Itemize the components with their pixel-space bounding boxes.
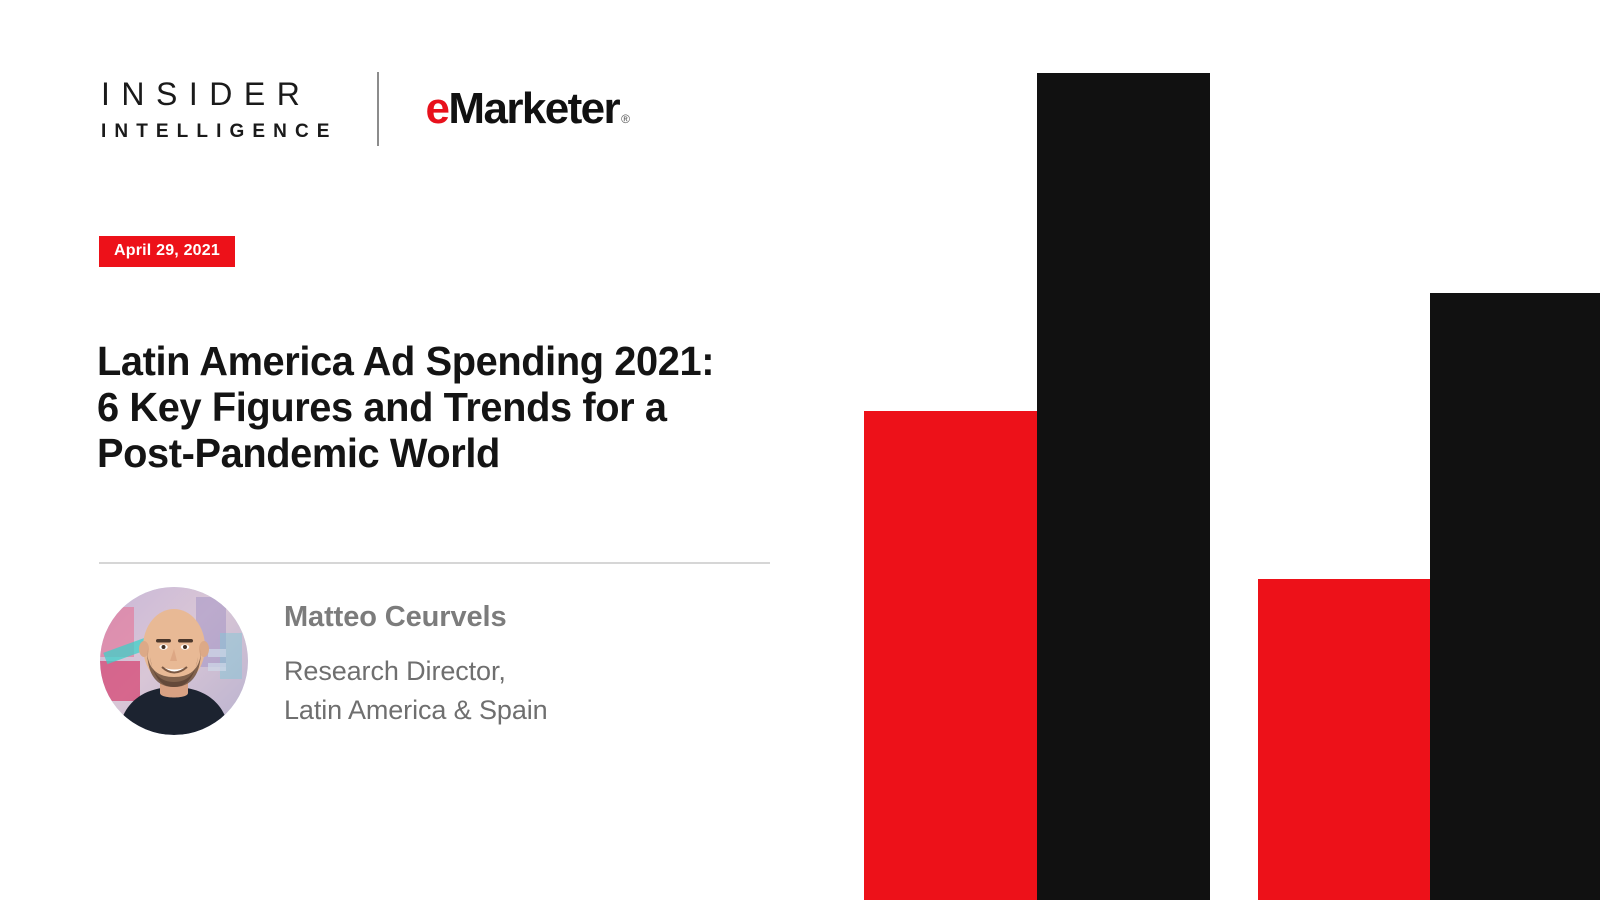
slide-title-line-2: 6 Key Figures and Trends for a <box>97 384 795 430</box>
slide-title-line-1: Latin America Ad Spending 2021: <box>97 338 795 384</box>
insider-wordmark: INSIDER <box>99 78 338 110</box>
presenter-role: Research Director, Latin America & Spain <box>284 652 548 730</box>
slide-content: INSIDER INTELLIGENCE eMarketer® April 29… <box>0 0 820 900</box>
presenter-photo-icon <box>100 587 248 735</box>
chart-bar-3 <box>1258 579 1430 900</box>
registered-trademark-icon: ® <box>621 112 628 126</box>
slide-title: Latin America Ad Spending 2021: 6 Key Fi… <box>97 338 795 476</box>
divider-rule <box>99 562 770 564</box>
presentation-slide: INSIDER INTELLIGENCE eMarketer® April 29… <box>0 0 1600 900</box>
intelligence-wordmark: INTELLIGENCE <box>99 122 338 141</box>
presenter-name: Matteo Ceurvels <box>284 603 548 632</box>
brand-logo-lockup: INSIDER INTELLIGENCE eMarketer® <box>99 72 628 146</box>
insider-intelligence-logo: INSIDER INTELLIGENCE <box>99 78 338 141</box>
chart-bar-4 <box>1430 293 1600 900</box>
logo-separator-line <box>377 72 379 146</box>
presenter-text: Matteo Ceurvels Research Director, Latin… <box>284 587 548 730</box>
slide-title-line-3: Post-Pandemic World <box>97 430 795 476</box>
presenter-block: Matteo Ceurvels Research Director, Latin… <box>100 587 548 735</box>
presenter-role-line-2: Latin America & Spain <box>284 691 548 730</box>
emarketer-logo: eMarketer® <box>426 84 629 134</box>
emarketer-e-glyph: e <box>426 84 449 134</box>
date-badge: April 29, 2021 <box>99 236 235 267</box>
chart-bar-2 <box>1037 73 1210 900</box>
presenter-role-line-1: Research Director, <box>284 652 548 691</box>
avatar <box>100 587 248 735</box>
emarketer-wordmark: Marketer <box>448 84 619 134</box>
chart-bar-1 <box>864 411 1037 900</box>
bar-chart-graphic <box>820 0 1600 900</box>
